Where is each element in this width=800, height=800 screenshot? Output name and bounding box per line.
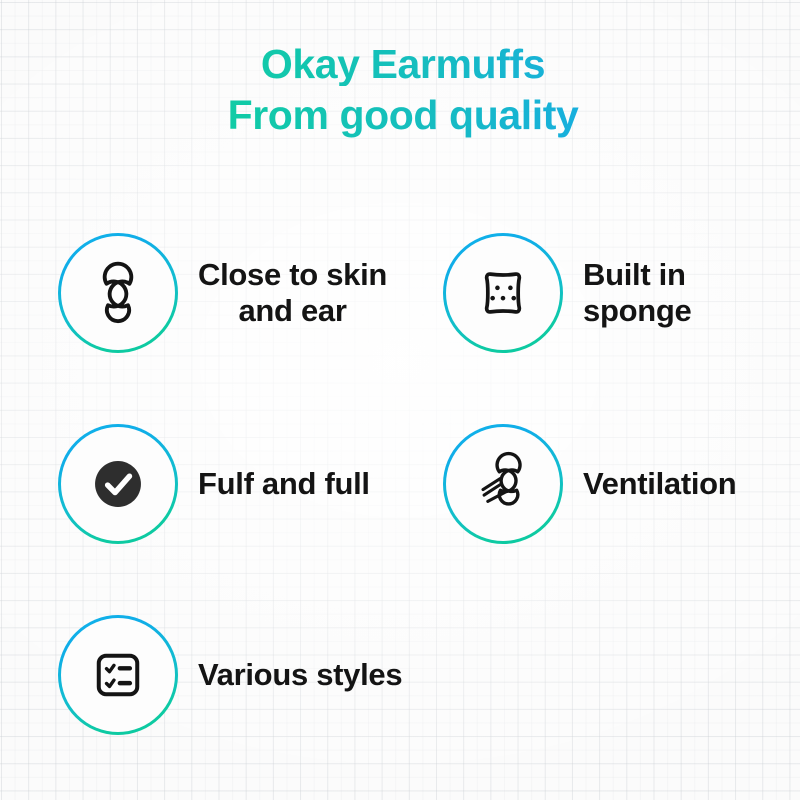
icon-circle-ventilation xyxy=(443,424,563,544)
icon-circle-fulf-and-full xyxy=(58,424,178,544)
feature-label-ventilation: Ventilation xyxy=(583,466,736,501)
headline-line-2: From good quality xyxy=(0,93,800,137)
cloud-outline-icon xyxy=(81,256,155,330)
feature-item-fulf-and-full: Fulf and full xyxy=(58,424,370,544)
headline-line-1: Okay Earmuffs xyxy=(0,42,800,86)
feature-item-various-styles: Various styles xyxy=(58,615,402,735)
feature-label-fulf-and-full: Fulf and full xyxy=(198,466,370,501)
sponge-icon xyxy=(466,256,540,330)
icon-circle-built-in-sponge xyxy=(443,233,563,353)
page-title: Okay Earmuffs From good quality xyxy=(0,42,800,138)
icon-circle-various-styles xyxy=(58,615,178,735)
feature-item-close-to-skin-and-ear: Close to skin and ear xyxy=(58,233,387,353)
feature-item-built-in-sponge: Built in sponge xyxy=(443,233,691,353)
checklist-icon xyxy=(81,638,155,712)
feature-label-built-in-sponge: Built in sponge xyxy=(583,257,691,327)
icon-circle-close-to-skin-and-ear xyxy=(58,233,178,353)
feature-list: Close to skin and ear Built in sponge Fu… xyxy=(0,233,800,753)
check-circle-filled-icon xyxy=(81,447,155,521)
wind-cloud-icon xyxy=(466,447,540,521)
feature-label-close-to-skin-and-ear: Close to skin and ear xyxy=(198,257,387,327)
feature-label-various-styles: Various styles xyxy=(198,657,402,692)
feature-item-ventilation: Ventilation xyxy=(443,424,736,544)
